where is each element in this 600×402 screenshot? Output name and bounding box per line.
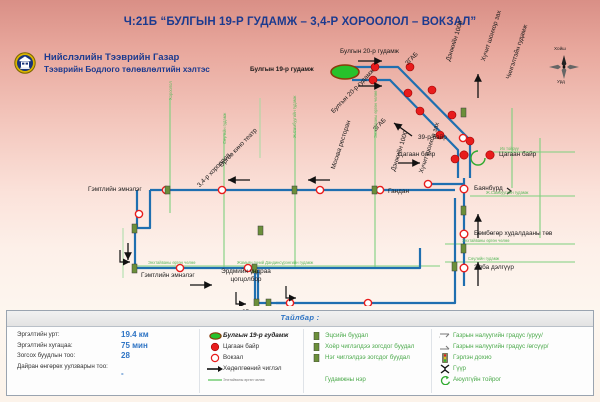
stat-row: Дайран өнгөрөх уулзварын тоо: -: [17, 363, 197, 379]
legend-item: Аюулгүйн тойрог: [437, 374, 593, 385]
stat-label: Дайран өнгөрөх уулзварын тоо:: [17, 363, 121, 372]
street-label-vertical1: Хороолол: [168, 81, 173, 100]
stop-marker[interactable]: [460, 264, 468, 272]
legend-label: Гүүр: [453, 365, 466, 372]
map-label-bombogor: Бөмбөгөр худалдааны төв: [474, 230, 552, 237]
terminus-marker[interactable]: [331, 65, 359, 79]
legend-divider: [303, 329, 304, 393]
stop-marker[interactable]: [460, 230, 468, 238]
legend-label: Энхтайваны өргөн чөлөө: [223, 378, 265, 382]
stop-marker[interactable]: [364, 299, 371, 306]
street-label-sambuu: Ж.Самбуугийн гудамж: [486, 190, 528, 195]
blue-square-icon: [309, 352, 325, 363]
stat-label: Эргэлтийн хугацаа:: [17, 342, 121, 351]
map-label-gemtliin-low: Гэмтлийн эмнэлэг: [141, 272, 195, 279]
legend-label: Вокзал: [223, 354, 243, 361]
map-label-tsagaan-left: Цагаан байр: [398, 151, 435, 158]
legend-label: Гудамжны нэр: [325, 376, 366, 383]
legend-item: Газрын налуугийн градус /өгсүүр/: [437, 341, 593, 352]
legend-label: Аюулгүйн тойрог: [453, 376, 501, 383]
stop-marker[interactable]: [316, 186, 323, 193]
legend-item: Нэг чиглэлдээ зогсдог буудал: [309, 352, 439, 363]
stop-marker[interactable]: [404, 89, 412, 97]
roundabout-icon: [437, 374, 453, 385]
street-label-souliin: Сөүлийн гудамж: [468, 256, 499, 261]
street-label-enkhtaivan1: Энхтайваны өргөн чөлөө: [462, 238, 509, 243]
legend-title-text: Тайлбар :: [280, 313, 319, 322]
stat-label: Зогсох буудлын тоо:: [17, 352, 121, 361]
stop-marker[interactable]: [459, 134, 466, 141]
stop-marker[interactable]: [448, 111, 456, 119]
svg-text:∕: ∕: [439, 335, 441, 340]
map-label-tsagaan-right: Цагаан байр: [499, 151, 536, 158]
stop-marker[interactable]: [416, 107, 424, 115]
stat-row: Зогсох буудлын тоо: 28: [17, 352, 197, 361]
legend-stats: Эргэлтийн урт: 19.4 км Эргэлтийн хугацаа…: [17, 331, 197, 380]
stop-marker[interactable]: [376, 186, 383, 193]
stat-value: 75 мин: [121, 342, 148, 351]
stop-marker[interactable]: [218, 186, 225, 193]
compass-rose-icon: [548, 54, 580, 80]
map-label-elba: Элба дэлгүүр: [474, 264, 514, 271]
street-label-ikh-toiruu: Их тойруу: [500, 146, 519, 151]
stop-marker[interactable]: [176, 264, 183, 271]
slope-up-icon: [437, 341, 453, 352]
route-map-canvas: Булгын 19-р гудамж Булгын 20-р гудамж ЗГ…: [0, 38, 600, 306]
legend-item: Гудамжны нэр: [309, 374, 439, 385]
map-label-bulgyn20-top: Булгын 20-р гудамж: [340, 48, 399, 55]
map-label-erdmiin: Эрдмийн үндраа цогцолбор: [216, 268, 276, 283]
blue-square-icon: [309, 341, 325, 352]
stop-marker[interactable]: [135, 210, 142, 217]
legend-label: Эцсийн буудал: [325, 332, 368, 339]
filled-red-circle-icon: [207, 341, 223, 352]
legend-label: Гэрлэн дохио: [453, 354, 492, 361]
map-label-terminus: Булгын 19-р гудамж: [250, 66, 314, 73]
traffic-light-icon: [437, 352, 453, 363]
map-label-gemtliin-mid: Гэмтлийн эмнэлэг: [88, 186, 142, 193]
blank-icon: [309, 363, 325, 374]
roundabout-icon: [471, 151, 485, 165]
blank-icon: [309, 374, 325, 385]
map-label-gandan: Гандан: [388, 188, 409, 195]
street-label-vertical2: Ж.Самбуугийн гудамж: [292, 96, 297, 138]
legend-title-bar: Тайлбар :: [7, 311, 593, 327]
stop-marker[interactable]: [286, 299, 293, 306]
legend-body: Эргэлтийн урт: 19.4 км Эргэлтийн хугацаа…: [7, 326, 593, 396]
street-label-vertical4: Сөүлийн гудамж: [222, 113, 227, 144]
legend-label: Цагаан байр: [223, 343, 259, 350]
route-line-blue: [135, 67, 470, 306]
slope-down-icon: ∕: [437, 330, 453, 341]
stat-value: -: [121, 363, 124, 379]
page-title: Ч:21Б “БУЛГЫН 19-Р ГУДАМЖ – 3,4-Р ХОРООЛ…: [0, 16, 600, 28]
stop-marker[interactable]: [424, 180, 431, 187]
stop-marker[interactable]: [460, 185, 468, 193]
stat-value: 28: [121, 352, 130, 361]
legend-item: Гэрлэн дохио: [437, 352, 593, 363]
legend-label: Нэг чиглэлдээ зогсдог буудал: [325, 354, 410, 361]
legend-item-spacer: [309, 363, 439, 374]
hollow-red-circle-icon: [207, 352, 223, 363]
street-label-vertical3: Энхтайваны өргөн чөлөө: [373, 91, 378, 138]
legend-panel: Тайлбар : Эргэлтийн урт: 19.4 км Эргэлти…: [6, 310, 594, 396]
stop-marker-tsagaan[interactable]: [486, 151, 494, 159]
legend-label: Газрын налуугийн градус /өгсүүр/: [453, 343, 549, 350]
legend-item: Эцсийн буудал: [309, 330, 439, 341]
bridge-icon: [437, 363, 453, 374]
stat-row: Эргэлтийн урт: 19.4 км: [17, 331, 197, 340]
legend-label: Булгын 19-р гудамж: [223, 332, 288, 339]
legend-column-topography: ∕ Газрын налуугийн градус /уруу/ Газрын …: [437, 330, 593, 385]
legend-item: Гүүр: [437, 363, 593, 374]
legend-divider: [431, 329, 432, 393]
route-map-page: Ч:21Б “БУЛГЫН 19-Р ГУДАМЖ – 3,4-Р ХОРООЛ…: [0, 0, 600, 402]
green-line-icon: [207, 374, 223, 385]
terminus-oval-icon: [207, 330, 223, 341]
legend-column-stop-types: Эцсийн буудал Хоёр чиглэлдээ зогсдог буу…: [309, 330, 439, 385]
stop-marker-hollow-group: [135, 134, 467, 306]
legend-divider: [199, 329, 200, 393]
blue-square-icon: [309, 330, 325, 341]
stat-value: 19.4 км: [121, 331, 149, 340]
legend-label: Хоёр чиглэлдээ зогсдог буудал: [325, 343, 414, 350]
stat-row: Эргэлтийн хугацаа: 75 мин: [17, 342, 197, 351]
street-lines-faint: [123, 98, 260, 278]
street-label-jamyan: Жамьян гүний Дандинсүрэнгийн гудамж: [237, 260, 313, 265]
compass-north-label: Хойш: [554, 46, 566, 51]
stop-marker[interactable]: [428, 86, 436, 94]
legend-item: ∕ Газрын налуугийн градус /уруу/: [437, 330, 593, 341]
map-label-39r-bair: 39-р байр: [418, 134, 447, 141]
stat-label: Эргэлтийн урт:: [17, 331, 121, 340]
legend-label: Хөдөлгөөний чиглэл: [223, 365, 281, 372]
stop-marker-tsagaan2[interactable]: [460, 151, 468, 159]
direction-arrow-icon: [207, 363, 223, 374]
stop-marker[interactable]: [451, 155, 459, 163]
street-label-enkhtaivan2: Энхтайваны өргөн чөлөө: [148, 260, 195, 265]
legend-label: Газрын налуугийн градус /уруу/: [453, 332, 543, 339]
legend-item: Хоёр чиглэлдээ зогсдог буудал: [309, 341, 439, 352]
